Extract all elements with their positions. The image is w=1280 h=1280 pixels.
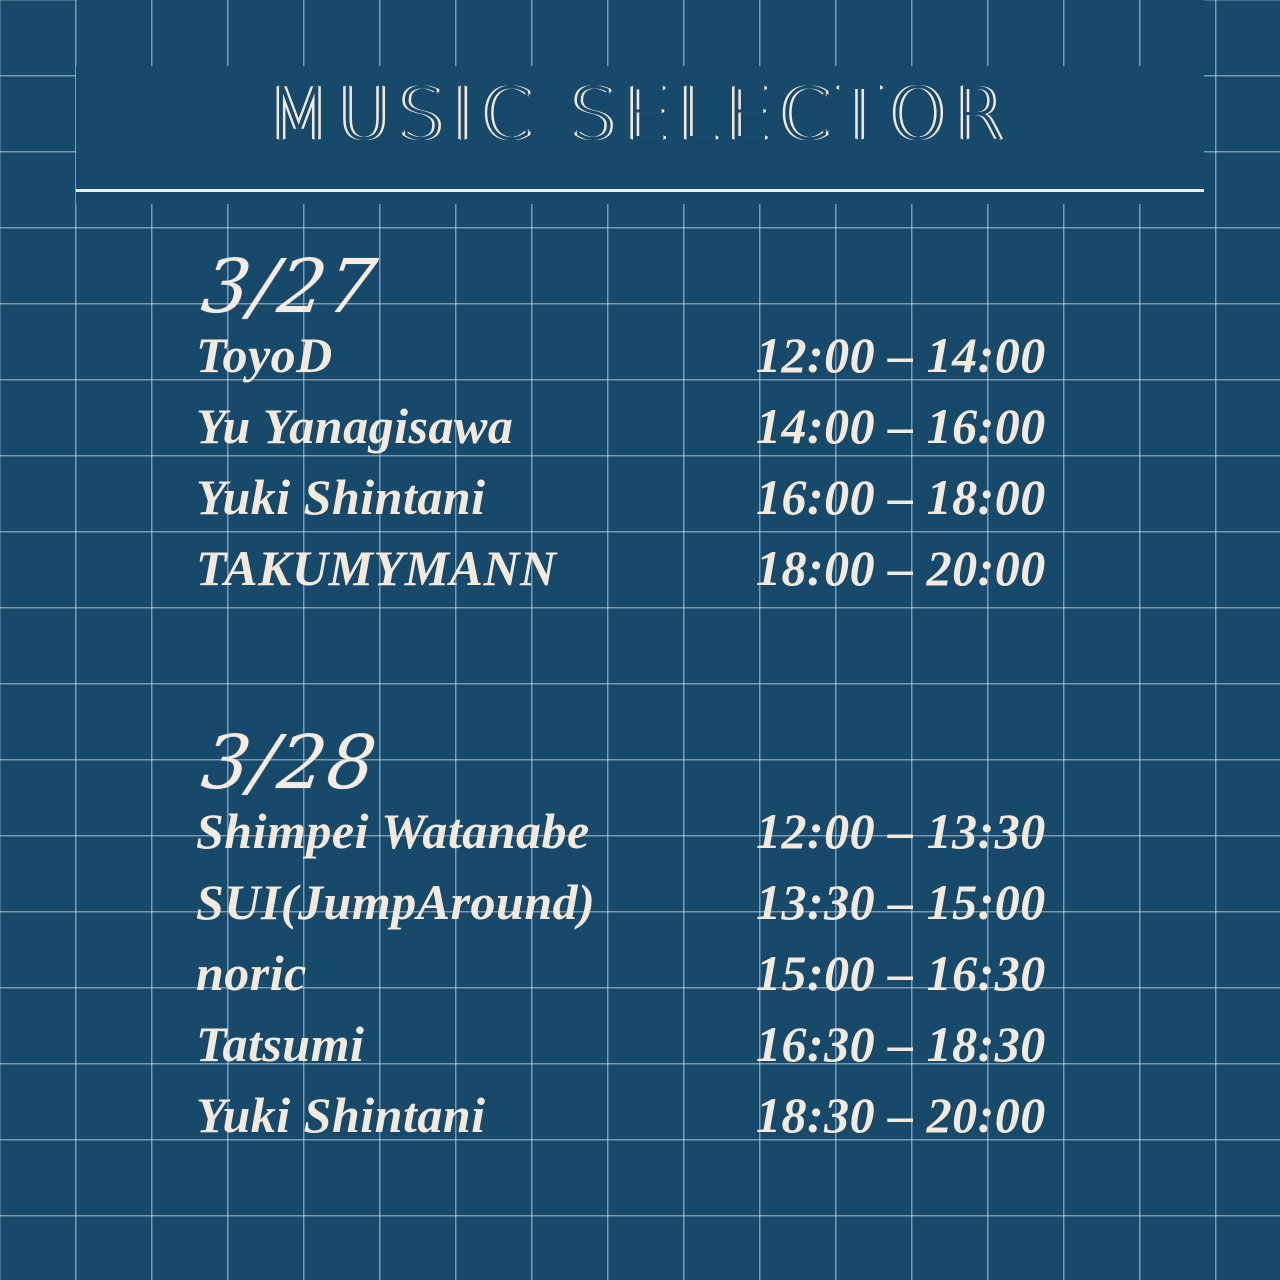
slot-time: 14:00 – 16:00 bbox=[756, 401, 1046, 451]
schedule-row: ToyoD 12:00 – 14:00 bbox=[196, 330, 1096, 401]
slot-artist: Yuki Shintani bbox=[196, 472, 756, 522]
slot-time: 18:30 – 20:00 bbox=[756, 1090, 1046, 1140]
slot-time: 16:00 – 18:00 bbox=[756, 472, 1046, 522]
slot-artist: ToyoD bbox=[196, 330, 756, 380]
slot-artist: noric bbox=[196, 948, 756, 998]
slot-list-2: Shimpei Watanabe 12:00 – 13:30 SUI(JumpA… bbox=[196, 806, 1096, 1161]
schedule-row: Yuki Shintani 16:00 – 18:00 bbox=[196, 472, 1096, 543]
slot-artist: TAKUMYMANN bbox=[196, 543, 756, 593]
day-block-1: 3/27 ToyoD 12:00 – 14:00 Yu Yanagisawa 1… bbox=[196, 252, 1096, 614]
schedule-row: SUI(JumpAround) 13:30 – 15:00 bbox=[196, 877, 1096, 948]
slot-artist: Shimpei Watanabe bbox=[196, 806, 756, 856]
slot-artist: Yuki Shintani bbox=[196, 1090, 756, 1140]
slot-list-1: ToyoD 12:00 – 14:00 Yu Yanagisawa 14:00 … bbox=[196, 330, 1096, 614]
day-date-2: 3/28 bbox=[198, 728, 1106, 798]
schedule-row: noric 15:00 – 16:30 bbox=[196, 948, 1096, 1019]
schedule-row: Shimpei Watanabe 12:00 – 13:30 bbox=[196, 806, 1096, 877]
day-block-2: 3/28 Shimpei Watanabe 12:00 – 13:30 SUI(… bbox=[196, 728, 1096, 1161]
slot-time: 15:00 – 16:30 bbox=[756, 948, 1046, 998]
slot-artist: Yu Yanagisawa bbox=[196, 401, 756, 451]
schedule-row: Tatsumi 16:30 – 18:30 bbox=[196, 1019, 1096, 1090]
slot-time: 18:00 – 20:00 bbox=[756, 543, 1046, 593]
day-date-1: 3/27 bbox=[198, 252, 1106, 322]
schedule-row: Yu Yanagisawa 14:00 – 16:00 bbox=[196, 401, 1096, 472]
slot-time: 13:30 – 15:00 bbox=[756, 877, 1046, 927]
poster-canvas: MUSIC SELECTOR 3/27 ToyoD 12:00 – 14:00 … bbox=[0, 0, 1280, 1280]
slot-artist: SUI(JumpAround) bbox=[196, 877, 756, 927]
slot-artist: Tatsumi bbox=[196, 1019, 756, 1069]
slot-time: 12:00 – 13:30 bbox=[756, 806, 1046, 856]
schedule-row: TAKUMYMANN 18:00 – 20:00 bbox=[196, 543, 1096, 614]
slot-time: 12:00 – 14:00 bbox=[756, 330, 1046, 380]
slot-time: 16:30 – 18:30 bbox=[756, 1019, 1046, 1069]
schedule-row: Yuki Shintani 18:30 – 20:00 bbox=[196, 1090, 1096, 1161]
schedule-container: 3/27 ToyoD 12:00 – 14:00 Yu Yanagisawa 1… bbox=[0, 0, 1280, 1280]
